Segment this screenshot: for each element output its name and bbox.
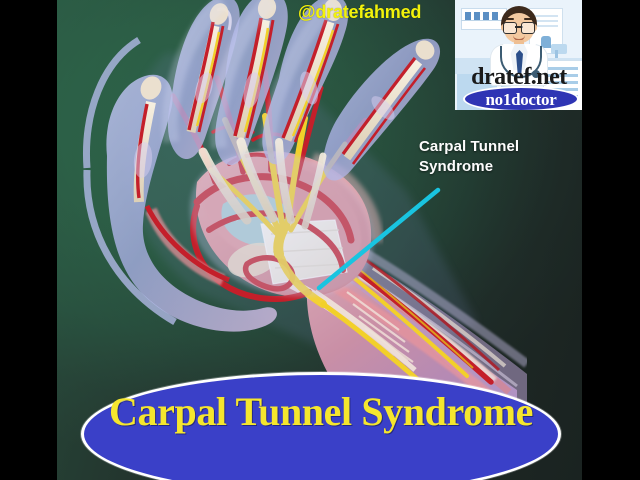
callout-label: Carpal Tunnel Syndrome xyxy=(419,137,519,177)
letterbox-right xyxy=(582,0,640,480)
logo-badge: no1doctor xyxy=(463,86,579,110)
video-frame: @dratefahmed Carpal Tunnel Syndrome xyxy=(57,0,582,480)
desk-item-icon xyxy=(551,44,567,54)
banner-title: Carpal Tunnel Syndrome xyxy=(81,388,561,435)
callout-line-2: Syndrome xyxy=(419,157,519,177)
video-player-stage: @dratefahmed Carpal Tunnel Syndrome xyxy=(0,0,640,480)
glasses-icon xyxy=(503,22,535,32)
letterbox-left xyxy=(0,0,57,480)
logo-badge-text: no1doctor xyxy=(486,91,557,108)
brand-logo-card[interactable]: dratef.net no1doctor xyxy=(455,0,582,110)
channel-handle-watermark: @dratefahmed xyxy=(298,2,421,23)
title-banner: Carpal Tunnel Syndrome xyxy=(81,372,561,480)
callout-line-1: Carpal Tunnel xyxy=(419,137,519,157)
